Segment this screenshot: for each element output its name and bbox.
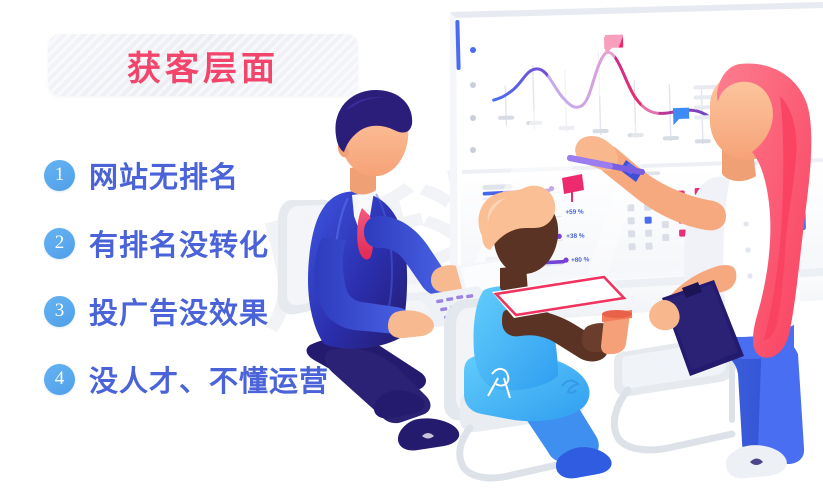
list-item: 4 没人才、不懂运营 xyxy=(44,356,364,402)
list-item-label: 投广告没效果 xyxy=(89,290,269,332)
list-item-label: 有排名没转化 xyxy=(89,222,269,264)
list-number-badge: 3 xyxy=(44,296,75,327)
list-item: 2 有排名没转化 xyxy=(44,220,364,266)
list-number-badge: 1 xyxy=(44,160,75,191)
list-number-badge: 4 xyxy=(44,364,75,395)
list-item-label: 网站无排名 xyxy=(89,154,239,196)
list-item-label: 没人才、不懂运营 xyxy=(89,358,329,400)
kpi-value: +59 % xyxy=(565,209,584,217)
sidebar-dot-4 xyxy=(470,147,476,153)
page-title-pill: 获客层面 xyxy=(48,34,358,96)
list-number-badge: 2 xyxy=(44,228,75,259)
sidebar-dot-1 xyxy=(470,47,476,53)
list-number: 3 xyxy=(55,301,65,320)
list-number: 4 xyxy=(55,369,65,388)
list-item: 3 投广告没效果 xyxy=(44,288,364,334)
list-number: 1 xyxy=(55,165,65,184)
kpi-value: +38 % xyxy=(566,232,585,240)
sidebar-dot-2 xyxy=(470,82,476,88)
page-title: 获客层面 xyxy=(127,41,279,90)
coffee-cup xyxy=(601,310,632,354)
pain-point-list: 1 网站无排名 2 有排名没转化 3 投广告没效果 4 没人才、不懂运营 xyxy=(44,152,364,424)
list-number: 2 xyxy=(55,233,65,252)
list-item: 1 网站无排名 xyxy=(44,152,364,198)
sidebar-dot-3 xyxy=(470,115,476,121)
kpi-value: +80 % xyxy=(571,256,590,264)
screenshot-root: 凡科建站 xyxy=(0,0,823,500)
